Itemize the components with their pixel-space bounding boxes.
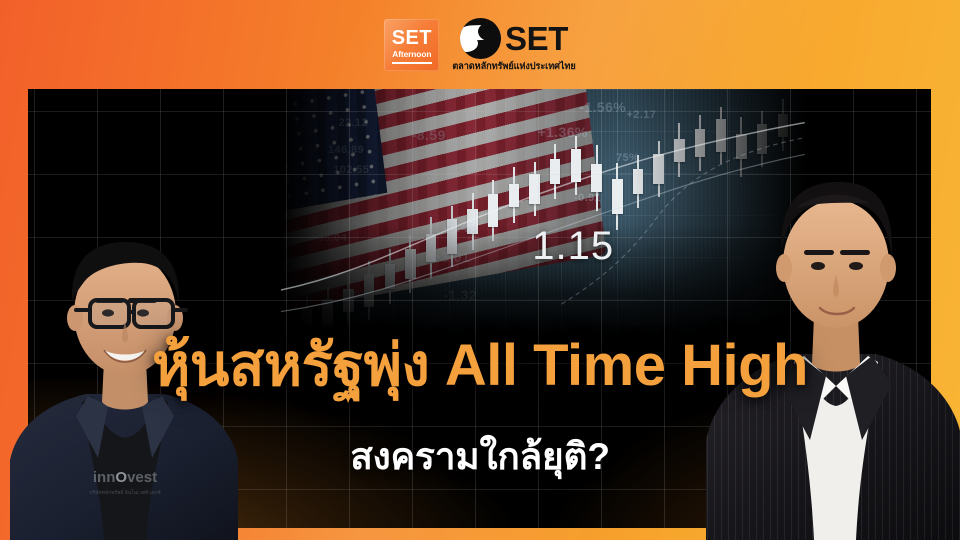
host-right-head [783, 200, 889, 328]
thumbnail-canvas: SET Afternoon SET ตลาดหลักทรัพย์แห่งประเ… [0, 0, 960, 540]
set-wave-circle-icon [460, 18, 501, 59]
set-afternoon-logo: SET Afternoon [384, 19, 439, 71]
quote-value: 1.15 [532, 224, 614, 269]
page-title: หุ้นสหรัฐพุ่ง All Time High [0, 336, 960, 397]
set-afternoon-afternoon-text: Afternoon [392, 50, 431, 58]
set-thailand-logo: SET ตลาดหลักทรัพย์แห่งประเทศไทย [452, 18, 575, 71]
set-afternoon-underline [392, 62, 432, 64]
host-right-ear-right [776, 254, 792, 282]
host-right-brow-right [804, 250, 834, 255]
logo-bar: SET Afternoon SET ตลาดหลักทรัพย์แห่งประเ… [0, 14, 960, 76]
host-right-eye-left [849, 262, 863, 270]
set-logo-row: SET [460, 18, 568, 59]
page-subtitle: สงครามใกล้ยุติ? [0, 437, 960, 478]
host-left-shirt-subtext: บริษัทหลักทรัพย์ อินโนเวสท์ เอกซ์ [89, 489, 161, 496]
host-right-ear-left [880, 254, 896, 282]
host-right-eye-right [811, 262, 825, 270]
wave-dot-shape [460, 35, 478, 52]
set-logo-text: SET [505, 22, 568, 55]
set-afternoon-set-text: SET [392, 28, 432, 48]
host-right-brow-left [840, 250, 870, 255]
set-logo-thai-subtitle: ตลาดหลักทรัพย์แห่งประเทศไทย [452, 62, 575, 71]
